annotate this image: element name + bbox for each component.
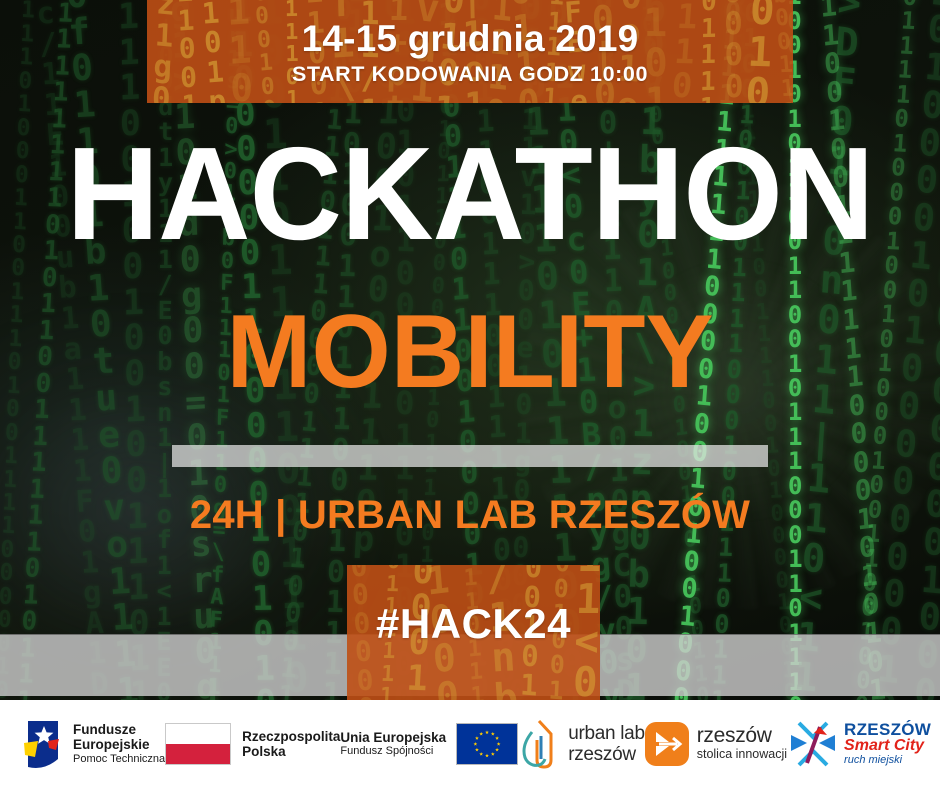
logo-text-line2: rzeszów <box>568 744 645 765</box>
logo-text-line1: urban lab <box>568 723 645 744</box>
poland-flag-icon <box>165 723 231 765</box>
eu-flag-icon <box>456 723 518 765</box>
logo-text-line2: Europejskie <box>73 737 165 752</box>
logo-text-line1: rzeszów <box>697 725 787 747</box>
logo-fundusze-europejskie: Fundusze Europejskie Pomoc Techniczna <box>18 717 165 771</box>
logo-text-line2: stolica innowacji <box>697 747 787 763</box>
urban-lab-icon <box>518 718 560 770</box>
logo-text-line1: Rzeczpospolita <box>242 729 340 744</box>
page-title: HACKATHON <box>14 128 926 260</box>
logo-urban-lab-rzeszow: urban lab rzeszów <box>518 718 645 770</box>
logo-text-line2: Smart City <box>844 738 931 755</box>
logo-text-line2: Fundusz Spójności <box>340 745 446 758</box>
date-banner: z 1 g 0 f 1 1 1 0 0 1 0 > 1 0 1 p 0 0 1 … <box>147 0 793 103</box>
logo-text-line2: Polska <box>242 744 340 759</box>
event-tagline: 24H | URBAN LAB RZESZÓW <box>0 494 940 536</box>
logo-text-line3: ruch miejski <box>844 754 931 767</box>
event-date: 14-15 grudnia 2019 <box>302 19 639 59</box>
hashtag-banner: 0 0 0 0 0 0 0 0 0 1 1 1 1 1 1 1 0 0 0 1 … <box>347 565 600 700</box>
event-hashtag: #HACK24 <box>376 600 571 648</box>
logo-rzeszow-stolica-innowacji: rzeszów stolica innowacji <box>645 722 787 766</box>
divider <box>172 445 768 467</box>
fundusze-europejskie-icon <box>18 717 64 771</box>
logo-text-line1: Unia Europejska <box>340 730 446 745</box>
smart-city-arrows-icon <box>787 719 839 769</box>
poster-root: 1 1 1 1 0 1 0 0 0 1 1 0 0 1 1 1 0 1 0 0 … <box>0 0 940 788</box>
logo-text-line1: Fundusze <box>73 722 165 737</box>
rzeszow-arrows-icon <box>645 722 689 766</box>
logo-rzeszow-smart-city: RZESZÓW Smart City ruch miejski <box>787 719 931 769</box>
page-subtitle: MOBILITY <box>9 300 930 404</box>
logo-text-line3: Pomoc Techniczna <box>73 753 165 766</box>
logo-unia-europejska: Unia Europejska Fundusz Spójności <box>340 723 518 765</box>
event-start-time: START KODOWANIA GODZ 10:00 <box>292 61 648 89</box>
logo-rzeczpospolita-polska: Rzeczpospolita Polska <box>165 723 340 765</box>
logo-text-line1: RZESZÓW <box>844 721 931 738</box>
sponsor-logo-bar: Fundusze Europejskie Pomoc Techniczna Rz… <box>0 700 940 788</box>
